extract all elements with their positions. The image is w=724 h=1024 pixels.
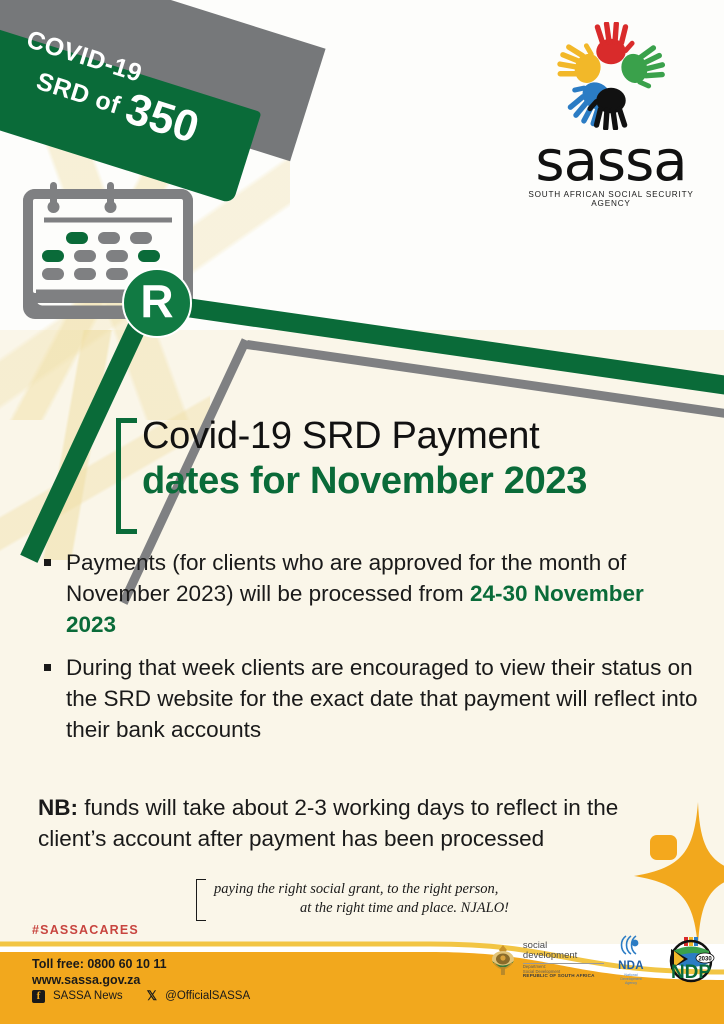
- sassa-payment-dates-poster: COVID-19 SRD of 350: [0, 0, 724, 1024]
- x-twitter-icon[interactable]: 𝕏: [147, 988, 157, 1004]
- yellow-blob-decoration: [650, 835, 677, 860]
- footer-contact: Toll free: 0800 60 10 11 www.sassa.gov.z…: [32, 957, 167, 988]
- heading-bracket-icon: [116, 418, 137, 534]
- bullet-list: Payments (for clients who are approved f…: [38, 547, 698, 757]
- bullet-text: During that week clients are encouraged …: [66, 655, 698, 742]
- list-item: Payments (for clients who are approved f…: [38, 547, 698, 640]
- partner-logos: social development Department: Social De…: [488, 934, 724, 986]
- dsd-sub-3: REPUBLIC OF SOUTH AFRICA: [523, 974, 604, 979]
- sassa-logo: sassa SOUTH AFRICAN SOCIAL SECURITY AGEN…: [513, 22, 709, 208]
- facebook-icon[interactable]: f: [32, 990, 45, 1003]
- social-links: f SASSA News 𝕏 @OfficialSASSA: [32, 988, 250, 1004]
- sa-coat-of-arms-icon: [488, 943, 518, 977]
- nda-title: NDA: [618, 961, 644, 973]
- nda-sub-3: Agency: [618, 981, 644, 985]
- dsd-title: social development: [523, 941, 604, 963]
- tagline: paying the right social grant, to the ri…: [196, 880, 616, 918]
- five-hands-circle-icon: [552, 22, 670, 130]
- note-paragraph: NB: funds will take about 2-3 working da…: [38, 792, 678, 854]
- heading-line-2: dates for November 2023: [142, 459, 696, 504]
- list-item: During that week clients are encouraged …: [38, 652, 698, 745]
- ndp-emblem-icon: 2030 NDP: [658, 937, 724, 983]
- x-handle[interactable]: @OfficialSASSA: [165, 990, 250, 1002]
- note-text: funds will take about 2-3 working days t…: [38, 795, 618, 851]
- hashtag: #SASSACARES: [32, 923, 139, 937]
- sassa-subtitle: SOUTH AFRICAN SOCIAL SECURITY AGENCY: [513, 190, 709, 208]
- nda-emblem-icon: [618, 934, 644, 956]
- note-label: NB:: [38, 795, 78, 820]
- sassa-wordmark: sassa: [513, 136, 709, 188]
- heading-line-1: Covid-19 SRD Payment: [142, 414, 696, 459]
- tagline-bracket-icon: [196, 879, 206, 921]
- toll-free-number: Toll free: 0800 60 10 11: [32, 957, 167, 973]
- ndp-title: NDP: [671, 962, 711, 983]
- social-development-logo: social development Department: Social De…: [488, 941, 604, 979]
- tagline-line-2: at the right time and place. NJALO!: [214, 899, 616, 918]
- page-title: Covid-19 SRD Payment dates for November …: [116, 414, 696, 504]
- tagline-line-1: paying the right social grant, to the ri…: [214, 881, 498, 897]
- nda-logo: NDA National Development Agency: [618, 934, 644, 986]
- rand-currency-badge: R: [122, 268, 192, 338]
- facebook-label[interactable]: SASSA News: [53, 990, 123, 1002]
- website-url[interactable]: www.sassa.gov.za: [32, 973, 167, 989]
- ndp-logo: 2030 NDP: [658, 937, 724, 983]
